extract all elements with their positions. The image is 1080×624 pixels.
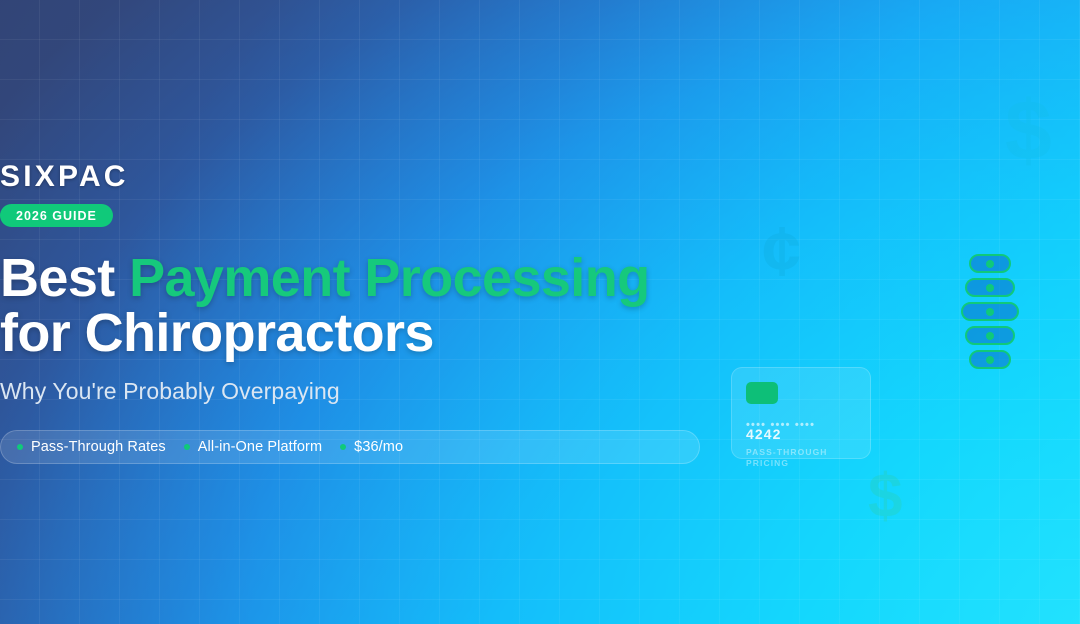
feature-item: $36/mo: [340, 439, 403, 455]
feature-label: $36/mo: [354, 439, 403, 455]
page-subtitle: Why You're Probably Overpaying: [0, 377, 340, 406]
page-title: Best Payment Processingfor Chiropractors: [0, 251, 760, 361]
feature-highlight-bar: Pass-Through Rates All-in-One Platform $…: [0, 430, 700, 464]
toggle-knob-icon: [986, 284, 994, 292]
toggle-knob-icon: [986, 356, 994, 364]
dollar-sign-watermark-secondary-icon: $: [868, 466, 902, 528]
headline-segment-accent: Payment Processing: [129, 248, 649, 308]
headline-segment-plain: Best: [0, 248, 129, 308]
feature-item: Pass-Through Rates: [17, 439, 166, 455]
feature-label: All-in-One Platform: [198, 439, 322, 455]
guide-year-badge: 2026 GUIDE: [0, 204, 113, 227]
card-chip-icon: [746, 382, 778, 404]
card-last-four-digits: 4242: [746, 427, 782, 441]
card-caption: Pass-Through Pricing: [746, 447, 866, 470]
toggle-switch-icon: [969, 350, 1011, 369]
bullet-dot-icon: [340, 444, 346, 450]
dollar-sign-watermark-icon: $: [1005, 88, 1052, 172]
toggle-switch-icon: [961, 302, 1019, 321]
toggle-knob-icon: [986, 260, 994, 268]
toggle-knob-icon: [986, 332, 994, 340]
bullet-dot-icon: [17, 444, 23, 450]
toggle-switch-icon: [965, 326, 1015, 345]
feature-label: Pass-Through Rates: [31, 439, 166, 455]
feature-item: All-in-One Platform: [184, 439, 322, 455]
bullet-dot-icon: [184, 444, 190, 450]
toggle-switch-icon: [969, 254, 1011, 273]
credit-card-graphic: •••• •••• •••• 4242 Pass-Through Pricing: [731, 367, 871, 459]
toggle-knob-icon: [986, 308, 994, 316]
headline-segment-line2: for Chiropractors: [0, 303, 434, 363]
cent-sign-watermark-icon: ¢: [762, 216, 801, 286]
toggle-switch-icon: [965, 278, 1015, 297]
hero-banner: $ ¢ $ •••• •••• •••• 4242 Pass-Through P…: [0, 0, 1080, 624]
brand-logo: SIXPAC: [0, 162, 129, 192]
toggle-stack-decoration: [955, 254, 1025, 378]
